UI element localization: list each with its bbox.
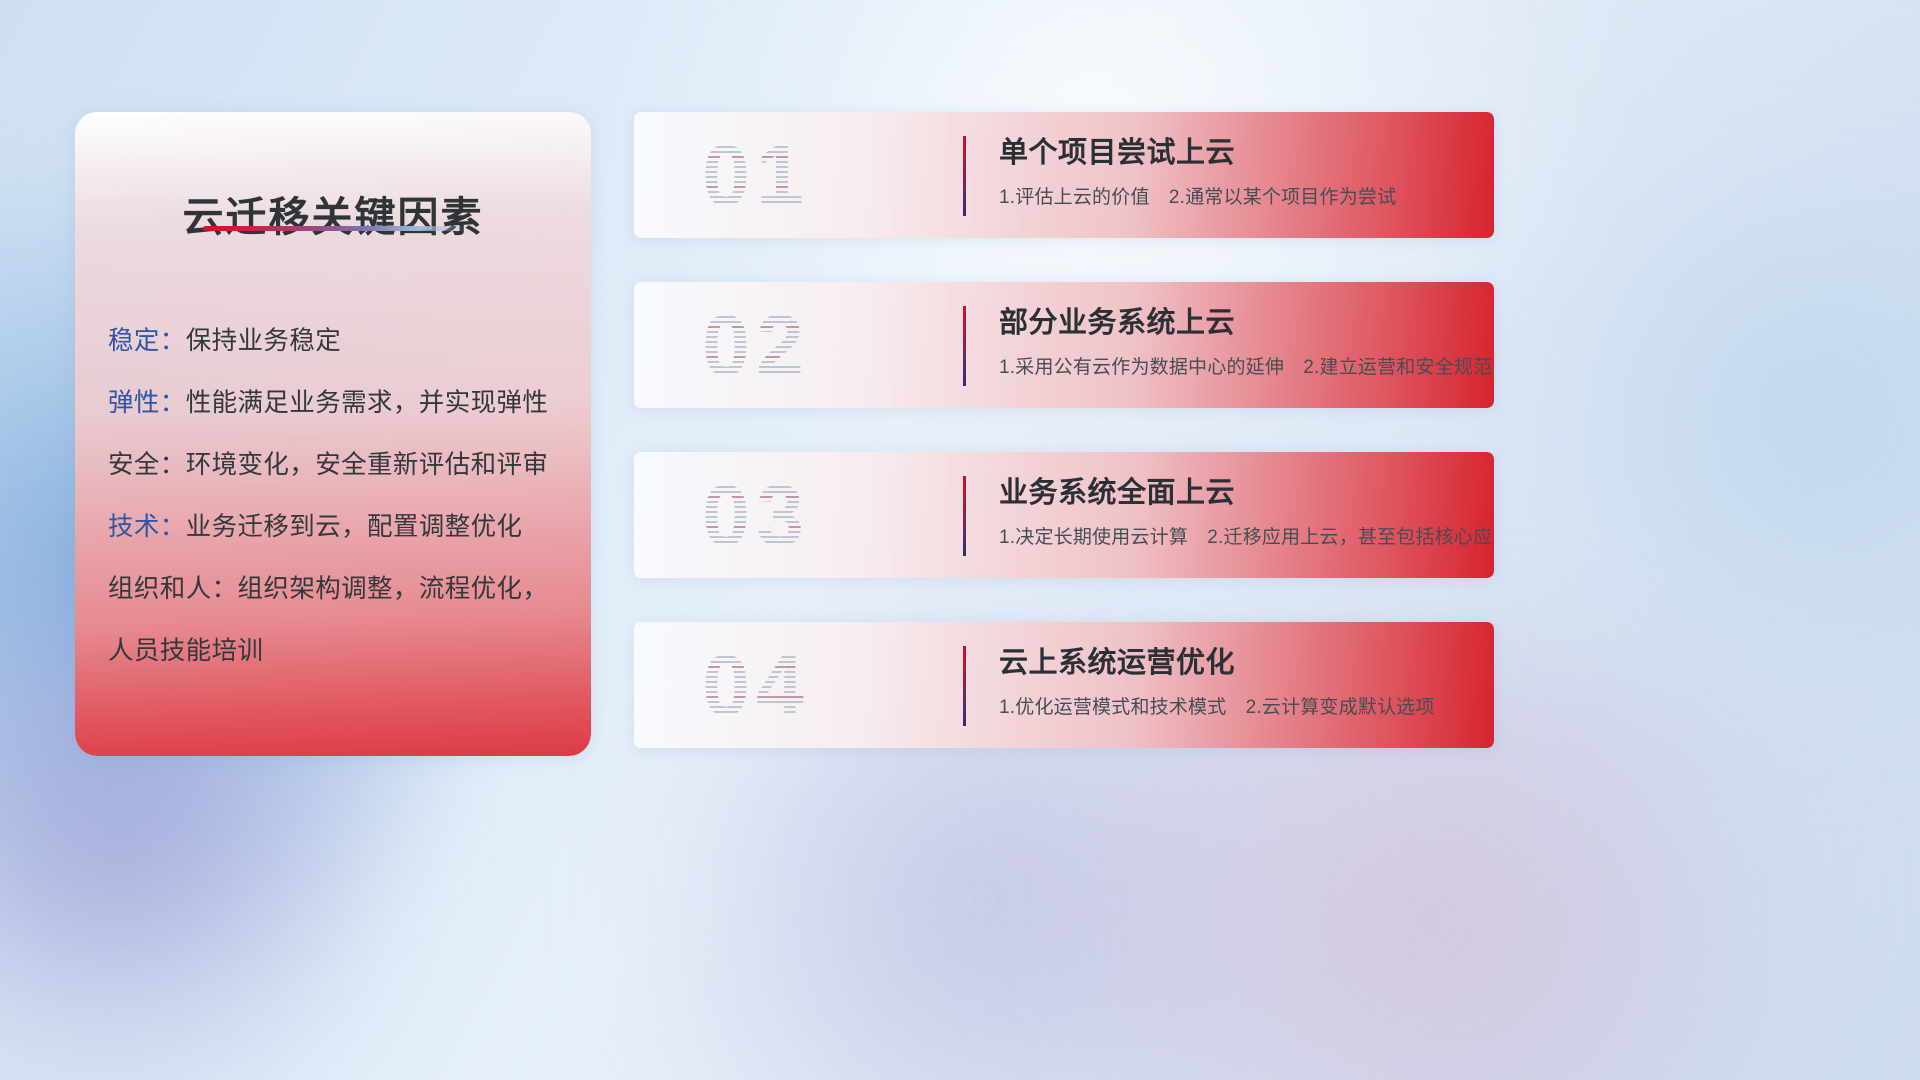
card-body: 云上系统运营优化 1.优化运营模式和技术模式 2.云计算变成默认选项 (999, 642, 1476, 722)
factor-text: 保持业务稳定 (186, 327, 341, 355)
factor-label: 安全： (108, 451, 186, 479)
step-title: 业务系统全面上云 (999, 472, 1476, 514)
step-card-list: 01 01 单个项目尝试上云 1.评估上云的价值 2.通常以某个项目作为尝试 0… (634, 112, 1494, 792)
step-title: 部分业务系统上云 (999, 302, 1476, 344)
factor-row-continuation: 人员技能培训 (108, 620, 569, 682)
factor-row: 稳定：保持业务稳定 (108, 310, 569, 372)
step-number-ghost: 01 (656, 126, 856, 226)
background-bloom-blue-right (1500, 60, 1920, 760)
card-divider-bar (963, 136, 966, 216)
card-body: 单个项目尝试上云 1.评估上云的价值 2.通常以某个项目作为尝试 (999, 132, 1476, 212)
step-card[interactable]: 02 02 部分业务系统上云 1.采用公有云作为数据中心的延伸 2.建立运营和安… (634, 282, 1494, 408)
card-body: 部分业务系统上云 1.采用公有云作为数据中心的延伸 2.建立运营和安全规范 (999, 302, 1476, 382)
step-subtitle: 1.评估上云的价值 2.通常以某个项目作为尝试 (999, 184, 1476, 212)
step-subtitle: 1.优化运营模式和技术模式 2.云计算变成默认选项 (999, 694, 1476, 722)
factor-row: 组织和人：组织架构调整，流程优化， (108, 558, 569, 620)
step-number-ghost: 02 (656, 296, 856, 396)
factor-text: 业务迁移到云，配置调整优化 (186, 513, 523, 541)
factor-label: 组织和人： (108, 575, 238, 603)
step-title: 单个项目尝试上云 (999, 132, 1476, 174)
factor-text: 组织架构调整，流程优化， (238, 575, 549, 603)
step-card[interactable]: 01 01 单个项目尝试上云 1.评估上云的价值 2.通常以某个项目作为尝试 (634, 112, 1494, 238)
factor-label: 稳定： (108, 327, 186, 355)
factor-label: 弹性： (108, 389, 186, 417)
factor-row: 弹性：性能满足业务需求，并实现弹性 (108, 372, 569, 434)
step-subtitle: 1.采用公有云作为数据中心的延伸 2.建立运营和安全规范 (999, 354, 1476, 382)
step-title: 云上系统运营优化 (999, 642, 1476, 684)
card-divider-bar (963, 306, 966, 386)
card-divider-bar (963, 646, 966, 726)
factor-text: 环境变化，安全重新评估和评审 (186, 451, 549, 479)
factor-text: 性能满足业务需求，并实现弹性 (186, 389, 549, 417)
card-divider-bar (963, 476, 966, 556)
step-number-ghost: 04 (656, 636, 856, 736)
factor-row: 技术：业务迁移到云，配置调整优化 (108, 496, 569, 558)
factor-text: 人员技能培训 (108, 637, 263, 665)
step-number-ghost: 03 (656, 466, 856, 566)
slide-canvas: 云迁移关键因素 稳定：保持业务稳定 弹性：性能满足业务需求，并实现弹性 安全：环… (0, 0, 1920, 1080)
page-title: 云迁移关键因素 (75, 183, 591, 243)
step-card[interactable]: 03 03 业务系统全面上云 1.决定长期使用云计算 2.迁移应用上云，甚至包括… (634, 452, 1494, 578)
title-underline-rule (203, 226, 465, 231)
factor-list: 稳定：保持业务稳定 弹性：性能满足业务需求，并实现弹性 安全：环境变化，安全重新… (108, 310, 569, 682)
step-card[interactable]: 04 04 云上系统运营优化 1.优化运营模式和技术模式 2.云计算变成默认选项 (634, 622, 1494, 748)
step-subtitle: 1.决定长期使用云计算 2.迁移应用上云，甚至包括核心应用 (999, 524, 1476, 552)
card-body: 业务系统全面上云 1.决定长期使用云计算 2.迁移应用上云，甚至包括核心应用 (999, 472, 1476, 552)
factor-row: 安全：环境变化，安全重新评估和评审 (108, 434, 569, 496)
factor-label: 技术： (108, 513, 186, 541)
key-factors-panel: 云迁移关键因素 稳定：保持业务稳定 弹性：性能满足业务需求，并实现弹性 安全：环… (75, 112, 591, 756)
